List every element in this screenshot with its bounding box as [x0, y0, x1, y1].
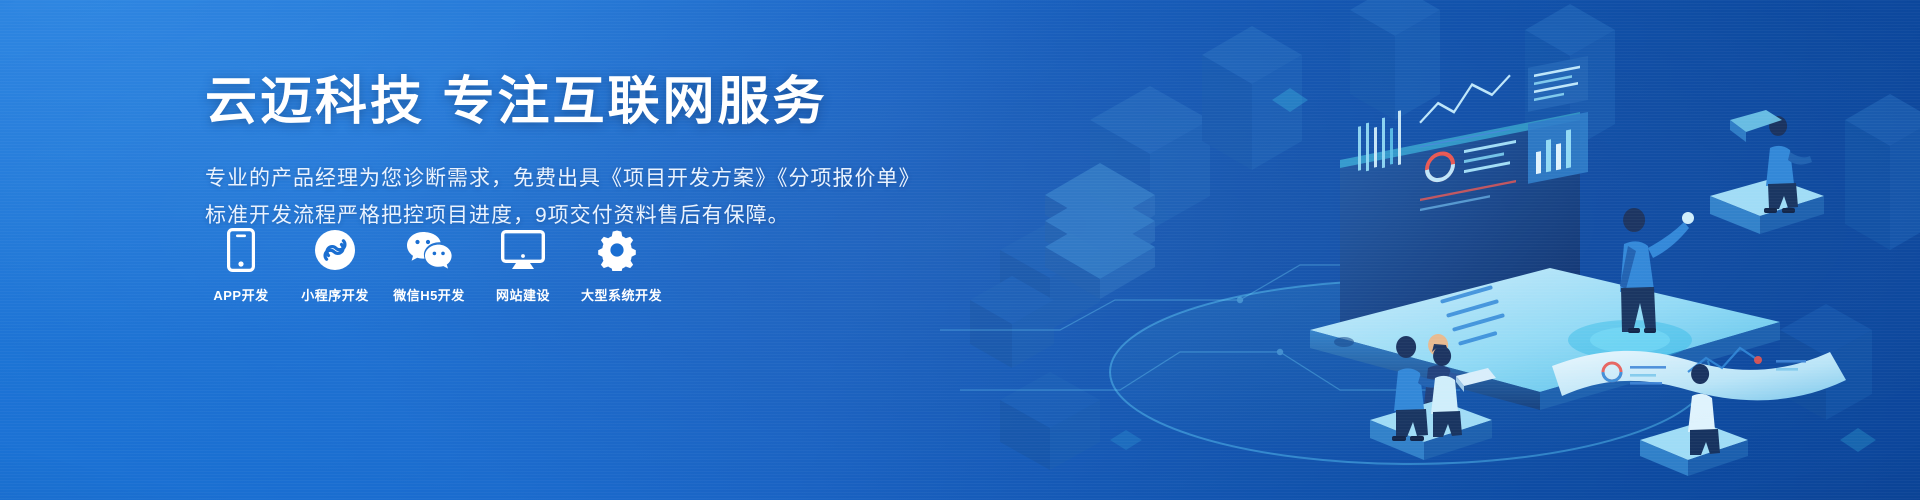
- service-label: APP开发: [205, 285, 277, 304]
- service-label: 小程序开发: [299, 285, 371, 304]
- person-right-platform: [1710, 110, 1824, 234]
- service-label: 大型系统开发: [581, 285, 653, 304]
- gear-icon: [581, 228, 653, 272]
- service-item-website[interactable]: 网站建设: [487, 228, 559, 304]
- service-item-mini-program[interactable]: 小程序开发: [299, 228, 371, 304]
- service-label: 微信H5开发: [393, 285, 465, 304]
- hero-banner: 云迈科技 专注互联网服务 专业的产品经理为您诊断需求，免费出具《项目开发方案》《…: [0, 0, 1920, 500]
- page-title: 云迈科技 专注互联网服务: [205, 72, 905, 133]
- wechat-icon: [393, 228, 465, 272]
- hero-subtitle: 专业的产品经理为您诊断需求，免费出具《项目开发方案》《分项报价单》 标准开发流程…: [205, 161, 905, 235]
- service-item-large-system[interactable]: 大型系统开发: [581, 228, 653, 304]
- mobile-phone-icon: [205, 228, 277, 272]
- service-item-app[interactable]: APP开发: [205, 228, 277, 304]
- service-list: APP开发 小程序开发: [205, 228, 675, 304]
- service-item-wechat-h5[interactable]: 微信H5开发: [393, 228, 465, 304]
- hero-copy: 云迈科技 专注互联网服务 专业的产品经理为您诊断需求，免费出具《项目开发方案》《…: [205, 72, 905, 235]
- illustration: [940, 0, 1920, 500]
- mini-program-icon: [299, 228, 371, 272]
- subtitle-line-1: 专业的产品经理为您诊断需求，免费出具《项目开发方案》《分项报价单》: [205, 161, 905, 198]
- service-label: 网站建设: [487, 285, 559, 304]
- monitor-icon: [487, 228, 559, 272]
